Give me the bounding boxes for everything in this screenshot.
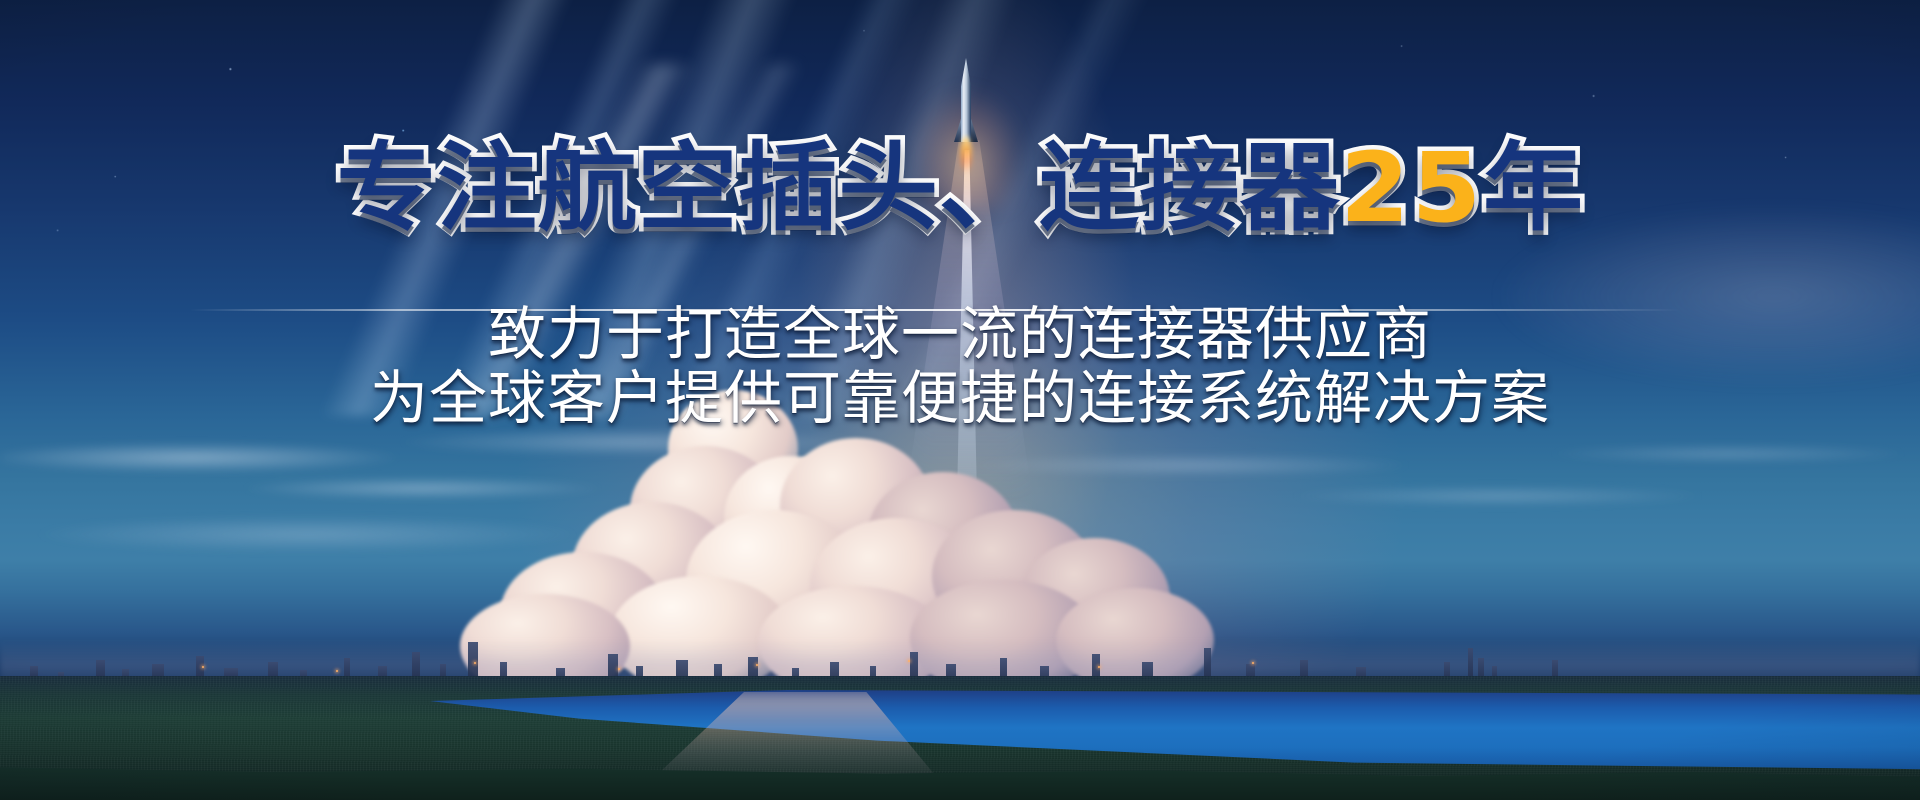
headline-part-primary: 专注航空插头、连接器 <box>336 140 1340 236</box>
city-light <box>756 664 758 666</box>
city-light <box>908 660 910 662</box>
headline-years-number: 25 <box>1340 140 1483 236</box>
city-light <box>474 662 476 664</box>
city-light <box>618 668 620 670</box>
page-title: 专注航空插头、连接器25年 <box>0 136 1920 240</box>
hero-banner: 专注航空插头、连接器25年 致力于打造全球一流的连接器供应商 为全球客户提供可靠… <box>0 0 1920 800</box>
city-light <box>202 666 204 668</box>
subtitle-line-1: 致力于打造全球一流的连接器供应商 <box>0 302 1920 366</box>
city-light <box>1252 662 1254 664</box>
subtitle-line-2: 为全球客户提供可靠便捷的连接系统解决方案 <box>0 366 1920 430</box>
city-light <box>336 670 338 672</box>
headline-part-suffix: 年 <box>1483 140 1583 236</box>
city-light <box>1098 666 1100 668</box>
rocket-body <box>961 58 971 142</box>
subtitle-block: 致力于打造全球一流的连接器供应商 为全球客户提供可靠便捷的连接系统解决方案 <box>0 296 1920 430</box>
